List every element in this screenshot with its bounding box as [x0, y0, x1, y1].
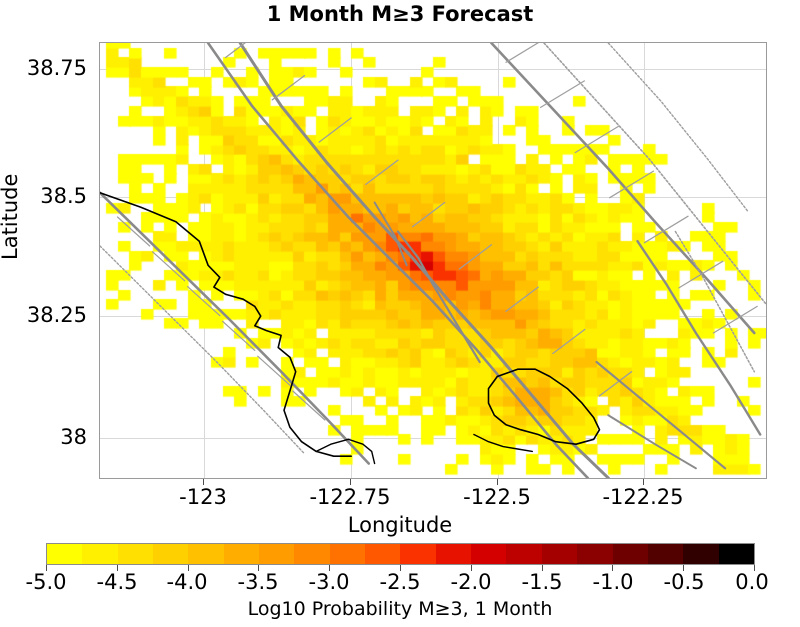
y-tick-label-1: 38.5: [40, 184, 87, 208]
fault-trace-southeast-1: [597, 362, 726, 468]
colorbar-swatch-9: [365, 544, 400, 564]
colorbar-swatch-0: [47, 544, 82, 564]
cbar-tick-label-6: -2.0: [451, 570, 492, 594]
y-axis-title: Latitude: [0, 174, 22, 260]
colorbar-gradient: [46, 543, 755, 565]
fault-cross-tie-0: [226, 43, 258, 58]
fault-cross-tie-1: [272, 76, 304, 100]
colorbar-swatch-1: [82, 544, 117, 564]
fault-cross-tie-ne-4: [644, 216, 688, 243]
fault-cross-tie-sw-0: [118, 217, 150, 246]
colorbar-swatch-19: [719, 544, 754, 564]
fault-trace-northeast-2-dotted: [544, 43, 766, 304]
y-tick-label-3: 38: [60, 425, 87, 449]
x-tick-label-3: -122.25: [602, 485, 683, 509]
colorbar-swatch-12: [471, 544, 506, 564]
colorbar-swatch-7: [294, 544, 329, 564]
colorbar-swatch-2: [118, 544, 153, 564]
x-axis-title: Longitude: [0, 513, 800, 537]
fault-cross-tie-sw-1: [153, 252, 185, 281]
fault-cross-tie-2: [319, 118, 351, 142]
fault-cross-tie-ne-1: [541, 81, 585, 108]
fault-cross-tie-sw-2: [188, 287, 220, 316]
colorbar-swatch-13: [506, 544, 541, 564]
colorbar-swatch-16: [613, 544, 648, 564]
colorbar-title: Log10 Probability M≥3, 1 Month: [0, 598, 800, 620]
fault-trace-san-andreas-dotted: [100, 246, 305, 454]
map-overlay-faults-coastline: [100, 43, 766, 478]
cbar-tick-label-5: -2.5: [380, 570, 421, 594]
x-tick-label-2: -122.5: [463, 485, 531, 509]
cbar-tick-label-4: -3.0: [309, 570, 350, 594]
colorbar: [46, 543, 755, 565]
cbar-tick-label-2: -4.0: [167, 570, 208, 594]
fault-trace-northeast-3-dotted: [608, 43, 748, 212]
fault-cross-tie-ne-0: [506, 43, 550, 62]
y-tick-label-0: 38.75: [27, 56, 87, 80]
fault-cross-tie-8: [600, 372, 632, 396]
fault-cross-tie-7: [553, 329, 585, 353]
colorbar-swatch-14: [542, 544, 577, 564]
fault-cross-tie-sw-5: [293, 391, 325, 420]
cbar-tick-label-9: -0.5: [664, 570, 705, 594]
colorbar-swatch-8: [330, 544, 365, 564]
colorbar-swatch-5: [224, 544, 259, 564]
x-tick-label-0: -123: [179, 485, 227, 509]
fault-trace-northeast-1: [491, 43, 754, 333]
colorbar-swatch-15: [577, 544, 612, 564]
fault-trace-san-andreas: [100, 193, 369, 464]
fault-trace-healdsburg: [208, 43, 588, 478]
page-title: 1 Month M≥3 Forecast: [0, 2, 800, 26]
fault-cross-tie-6: [506, 287, 538, 311]
colorbar-swatch-11: [436, 544, 471, 564]
cbar-tick-label-3: -3.5: [238, 570, 279, 594]
coastline-bay-channel: [474, 435, 532, 452]
cbar-tick-label-1: -4.5: [97, 570, 138, 594]
forecast-map-plot: [99, 42, 767, 479]
fault-cross-tie-sw-4: [258, 356, 290, 385]
coastline-san-pablo-bay: [489, 369, 600, 444]
colorbar-swatch-3: [153, 544, 188, 564]
fault-cross-tie-5: [459, 245, 491, 269]
colorbar-swatch-10: [400, 544, 435, 564]
fault-trace-green-valley-dotted: [675, 232, 754, 372]
fault-cross-tie-sw-3: [223, 321, 255, 350]
fault-cross-tie-4: [413, 203, 445, 227]
colorbar-swatch-6: [259, 544, 294, 564]
colorbar-swatch-17: [648, 544, 683, 564]
y-tick-label-2: 38.25: [27, 303, 87, 327]
colorbar-swatch-4: [188, 544, 223, 564]
cbar-tick-label-10: 0.0: [735, 570, 768, 594]
fault-cross-tie-3: [366, 160, 398, 184]
fault-trace-southeast-2: [608, 415, 696, 468]
cbar-tick-label-8: -1.0: [593, 570, 634, 594]
colorbar-swatch-18: [683, 544, 718, 564]
fault-splay-central: [398, 232, 480, 363]
cbar-tick-label-0: -5.0: [26, 570, 67, 594]
cbar-tick-label-7: -1.5: [522, 570, 563, 594]
x-tick-label-1: -122.75: [309, 485, 390, 509]
